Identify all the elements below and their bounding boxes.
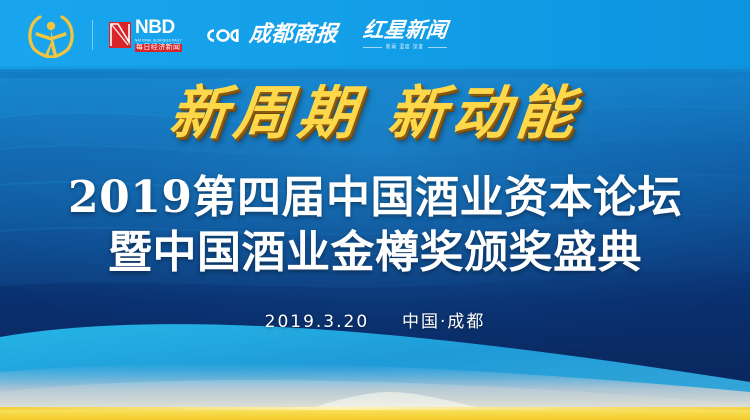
logo-hongxing-news[interactable]: 红星新闻 新闻 温度 深度: [363, 20, 447, 50]
gold-human-figure-emblem-icon: [24, 12, 78, 58]
event-poster: NBD NATIONAL BUSINESS DAILY 每日经济新闻 成都商报 …: [0, 0, 750, 420]
organizer-logo[interactable]: [24, 13, 109, 57]
nbd-english-name: NATIONAL BUSINESS DAILY: [135, 39, 182, 43]
logo-nbd[interactable]: NBD NATIONAL BUSINESS DAILY 每日经济新闻: [109, 18, 182, 52]
hongxing-chinese-name: 红星新闻: [362, 20, 448, 41]
logo-cdsb[interactable]: 成都商报: [204, 24, 337, 46]
hongxing-tagline-row: 新闻 温度 深度: [363, 44, 447, 50]
tagline-rule-left: [363, 47, 382, 48]
nbd-wordmark: NBD: [135, 18, 182, 37]
logo-bar-divider: [92, 20, 93, 50]
nbd-chinese-name: 每日经济新闻: [135, 44, 182, 52]
tagline-rule-right: [428, 47, 447, 48]
hongxing-tagline: 新闻 温度 深度: [386, 43, 424, 51]
nbd-red-n-mark-icon: [109, 22, 131, 48]
cdsb-oval-mark-icon: [204, 27, 242, 44]
sponsor-logo-bar: NBD NATIONAL BUSINESS DAILY 每日经济新闻 成都商报 …: [0, 0, 750, 70]
cdsb-chinese-name: 成都商报: [248, 24, 338, 46]
